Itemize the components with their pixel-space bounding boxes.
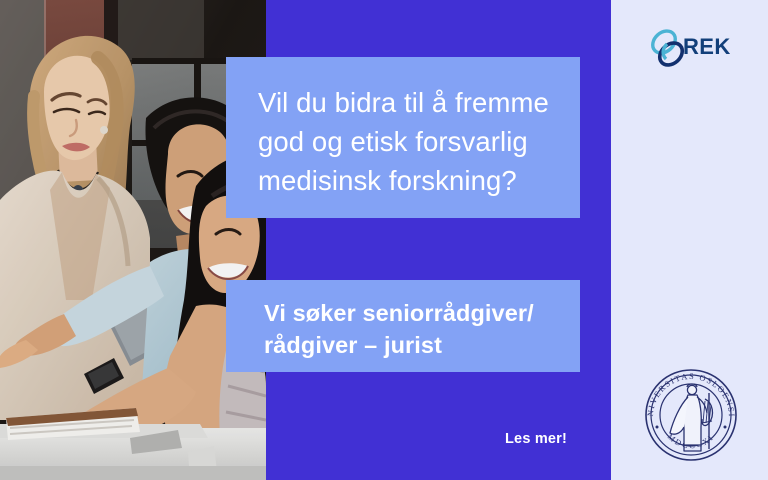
subheadline-line-2: rådgiver – jurist [264, 329, 566, 361]
rek-rings-icon [648, 25, 688, 71]
rek-wordmark: REK [683, 34, 731, 60]
subheadline-line-1: Vi søker seniorrådgiver/ [264, 297, 566, 329]
uio-seal: UNIVERSITAS OSLOENSIS MDCCCXI [639, 363, 743, 467]
job-advert-banner: Vil du bidra til å fremme god og etisk f… [0, 0, 768, 480]
headline-line-1: Vil du bidra til å fremme [258, 83, 560, 122]
headline-box: Vil du bidra til å fremme god og etisk f… [226, 57, 580, 218]
headline-line-3: medisinsk forskning? [258, 161, 560, 200]
rek-logo[interactable]: REK [648, 25, 736, 71]
subheadline-box: Vi søker seniorrådgiver/ rådgiver – juri… [226, 280, 580, 372]
read-more-link[interactable]: Les mer! [505, 431, 567, 447]
headline-line-2: god og etisk forsvarlig [258, 122, 560, 161]
